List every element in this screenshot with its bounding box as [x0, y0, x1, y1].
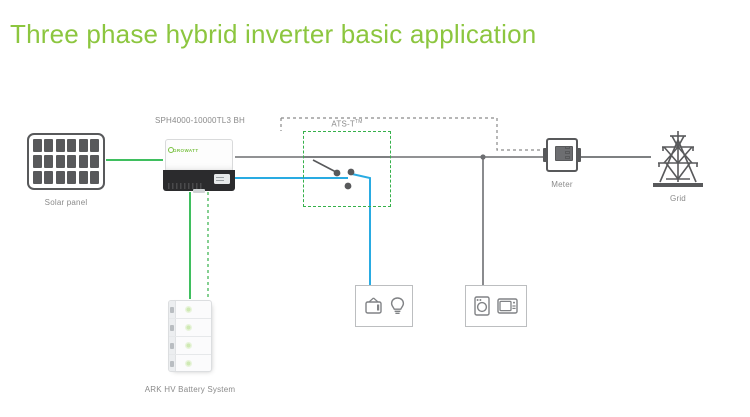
grid-label: Grid: [638, 194, 718, 203]
meter-label: Meter: [522, 180, 602, 189]
battery-tab: [170, 325, 174, 331]
backup-loads-group: [355, 285, 413, 327]
battery-tab: [170, 343, 174, 349]
battery-tab: [170, 361, 174, 367]
battery-module: [169, 355, 212, 372]
inverter-lower-body: [163, 170, 235, 191]
light-bulb-icon: [390, 296, 405, 317]
solar-panel-label: Solar panel: [16, 198, 116, 207]
meter-body: [546, 138, 578, 172]
transmission-tower-icon: [658, 131, 698, 182]
meter-display-icon: [555, 146, 573, 161]
battery-label: ARK HV Battery System: [130, 385, 250, 394]
transfer-switch-icon: [303, 131, 391, 207]
inverter-display-icon: [214, 174, 230, 184]
diagram-canvas: Three phase hybrid inverter basic applic…: [0, 0, 750, 417]
ats-trademark-mark: TM: [355, 119, 363, 125]
tower-base: [653, 183, 703, 187]
inverter-upper-body: GROWATT: [165, 139, 233, 172]
washing-machine-icon: [474, 296, 490, 316]
battery-tab: [170, 307, 174, 313]
tv-icon: [364, 296, 383, 316]
energy-meter-icon: [543, 138, 581, 172]
inverter-label: SPH4000-10000TL3 BH: [140, 116, 260, 125]
battery-module: [169, 319, 212, 337]
microwave-oven-icon: [497, 298, 518, 314]
wiring-layer: [0, 0, 750, 417]
inverter-brand-logo: GROWATT: [173, 148, 198, 153]
inverter-icon: GROWATT: [163, 139, 235, 191]
solar-panel-icon: [27, 133, 105, 190]
ats-label-text: ATS-T: [331, 120, 355, 129]
meter-buttons: [565, 146, 570, 159]
battery-module: [169, 301, 212, 319]
normal-loads-group: [465, 285, 527, 327]
ats-label: ATS-TTM: [303, 119, 391, 129]
inverter-port: [193, 189, 205, 193]
battery-stack-icon: [168, 300, 212, 372]
battery-module: [169, 337, 212, 355]
